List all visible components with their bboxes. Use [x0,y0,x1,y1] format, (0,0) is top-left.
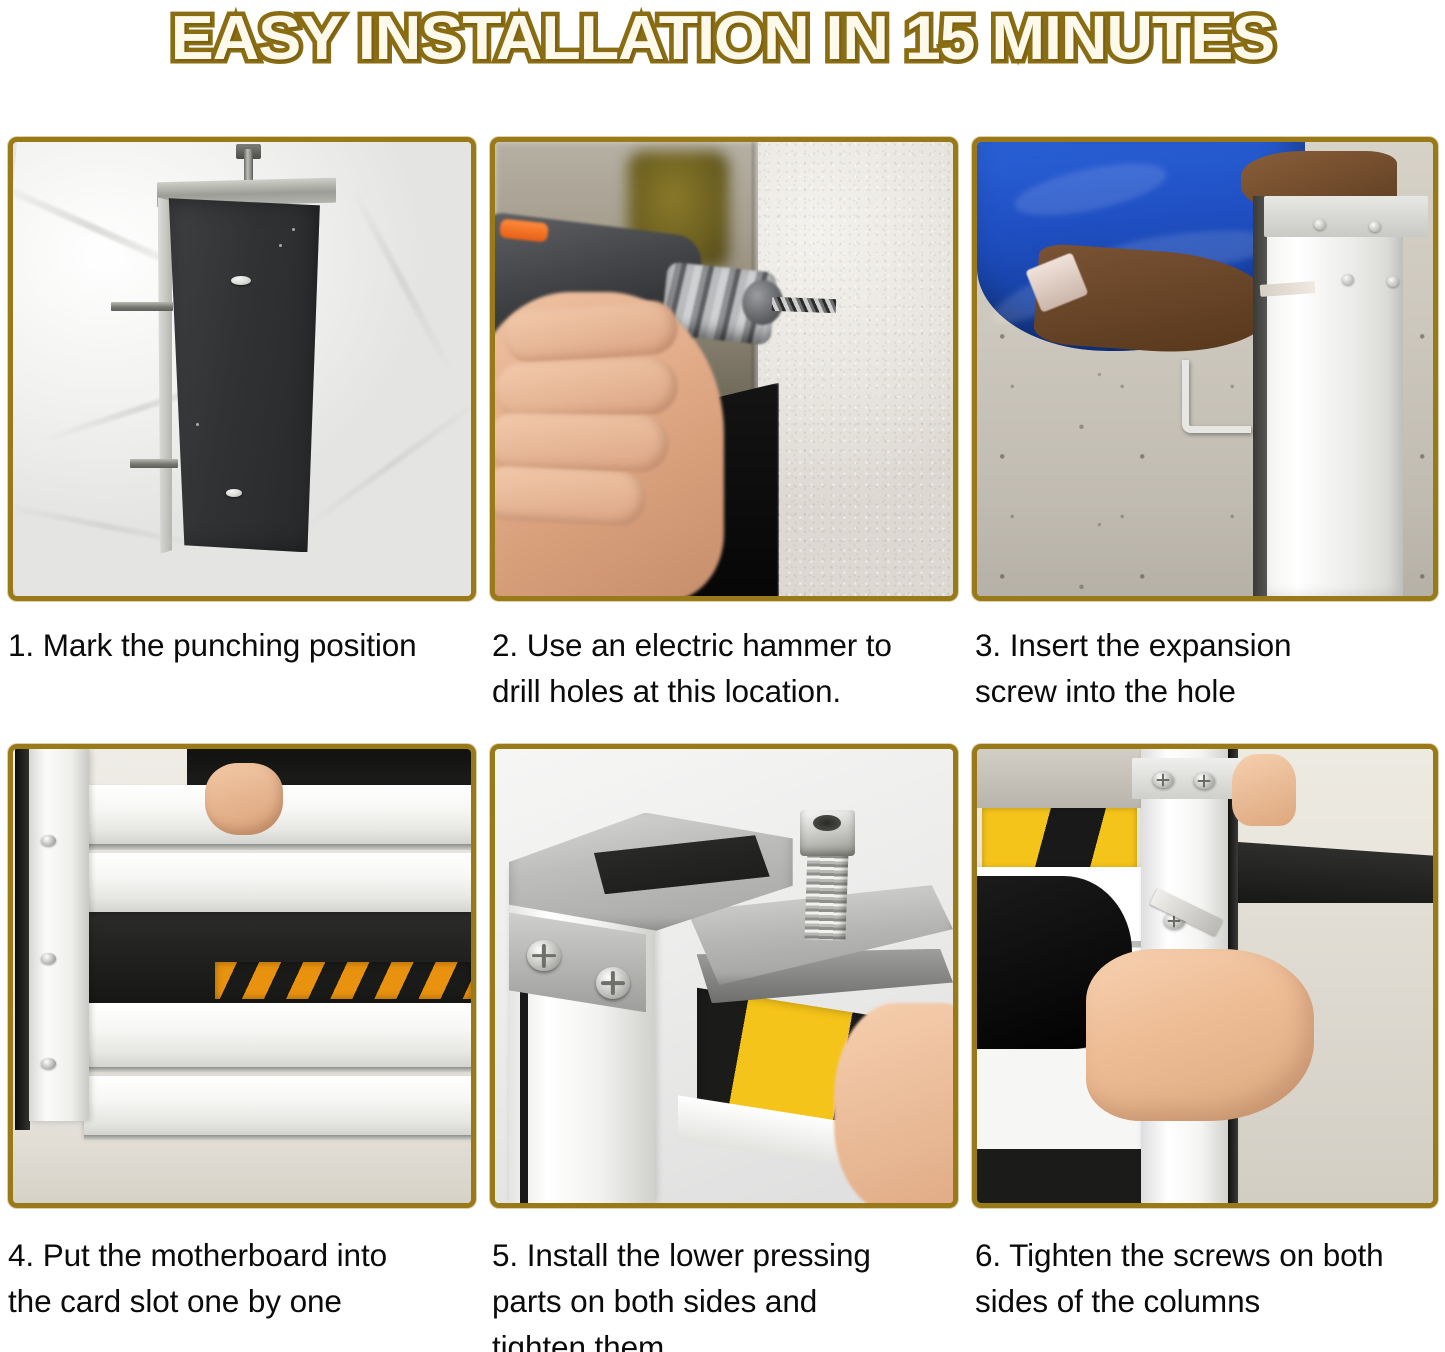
step-4-caption: 4. Put the motherboard into the card slo… [8,1232,478,1324]
installation-guide-page: EASY INSTALLATION IN 15 MINUTES [0,0,1445,1352]
step-2-caption-line-2: drill holes at this location. [492,668,962,714]
step-3-caption-line-1: 3. Insert the expansion [975,622,1441,668]
step-5-caption-line-2: parts on both sides and [492,1278,962,1324]
step-6-caption-line-1: 6. Tighten the screws on both [975,1232,1441,1278]
step-5-photo [490,744,958,1208]
steps-grid: 1. Mark the punching position [0,0,1445,1352]
step-3-caption-line-2: screw into the hole [975,668,1441,714]
step-1-caption-line-1: 1. Mark the punching position [8,622,478,668]
step-1-photo [8,137,476,601]
step-3-photo [972,137,1438,601]
step-6-photo [972,744,1438,1208]
step-2-caption: 2. Use an electric hammer to drill holes… [492,622,962,714]
step-5-caption-line-1: 5. Install the lower pressing [492,1232,962,1278]
step-4-caption-line-1: 4. Put the motherboard into [8,1232,478,1278]
step-3-caption: 3. Insert the expansion screw into the h… [975,622,1441,714]
step-4-photo [8,744,476,1208]
step-1-caption: 1. Mark the punching position [8,622,478,668]
step-6-caption: 6. Tighten the screws on both sides of t… [975,1232,1441,1324]
step-5-caption: 5. Install the lower pressing parts on b… [492,1232,962,1352]
step-2-caption-line-1: 2. Use an electric hammer to [492,622,962,668]
step-4-caption-line-2: the card slot one by one [8,1278,478,1324]
step-2-photo [490,137,958,601]
step-5-caption-line-3: tighten them [492,1324,962,1352]
step-6-caption-line-2: sides of the columns [975,1278,1441,1324]
